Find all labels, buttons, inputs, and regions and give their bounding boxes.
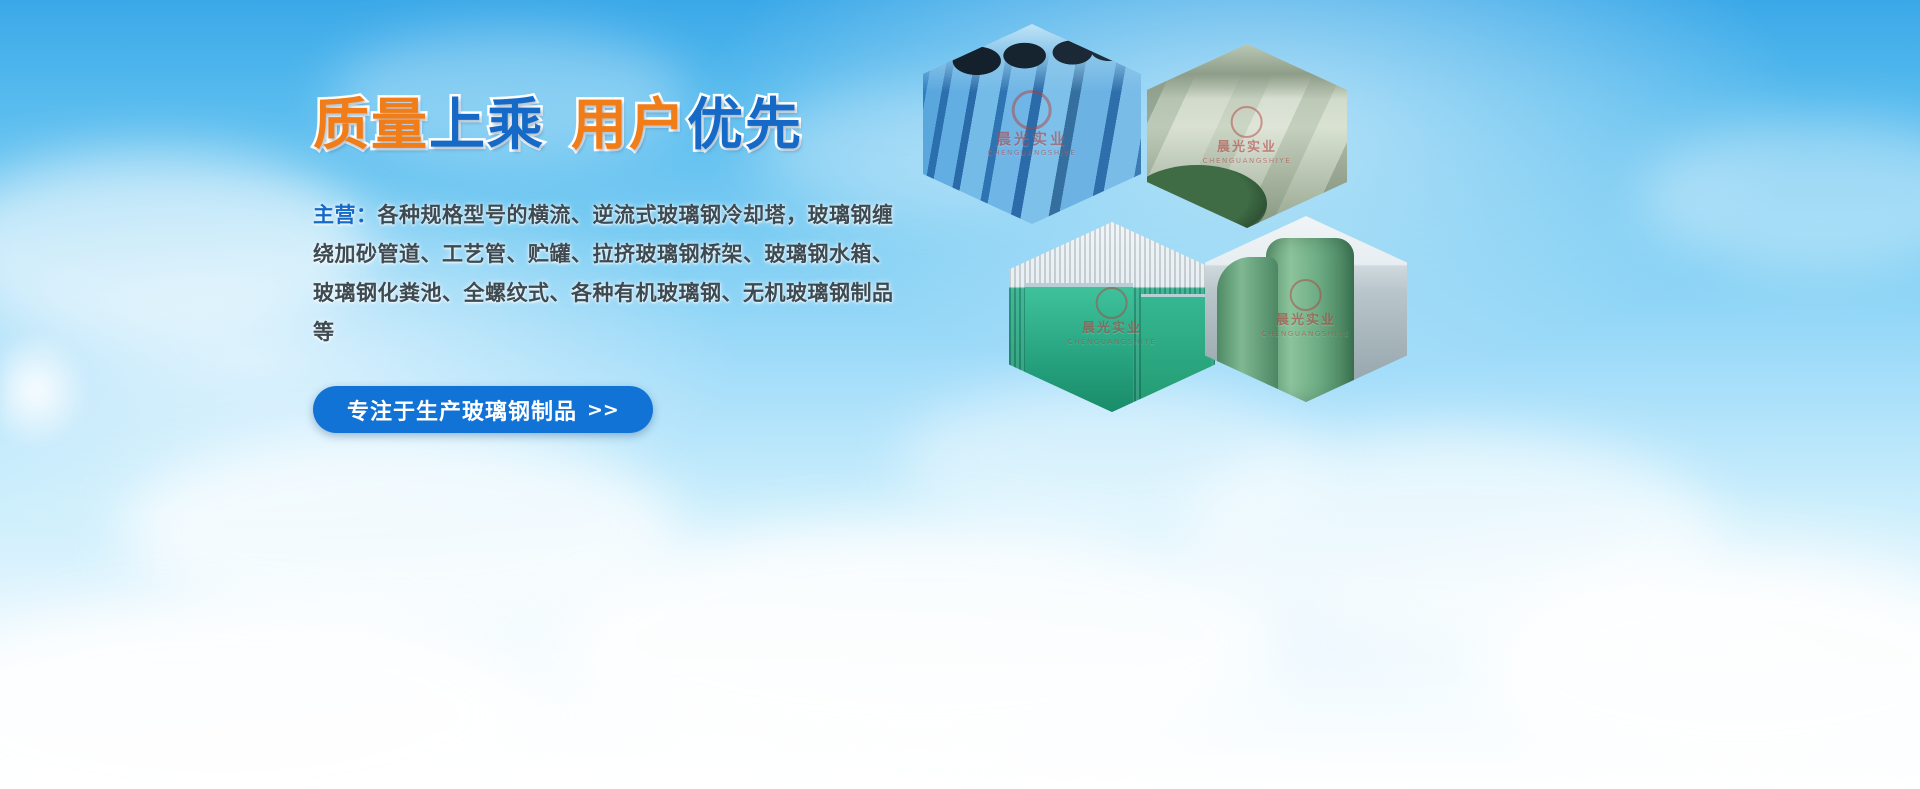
blue-frp-pipes-image [923,24,1141,224]
product-photo-blue-frp-pipes[interactable]: 晨光实业 CHENGUANGSHIYE [923,24,1141,224]
cta-button-label: 专注于生产玻璃钢制品 [347,394,577,426]
banner-headline: 质量上乘用户优先 [313,94,913,158]
double-chevron-right-icon: >> [587,399,619,421]
headline-segment-first: 优先 [687,93,803,158]
headline-segment-quality: 质量 [313,93,429,158]
cloud-decoration [1640,120,1920,270]
cloud-decoration [0,600,530,789]
cloud-decoration [120,430,680,630]
product-photo-cluster: 晨光实业 CHENGUANGSHIYE 晨光实业 CHENGUANGSHIYE … [915,6,1435,406]
promo-banner: 质量上乘用户优先 主营：各种规格型号的横流、逆流式玻璃钢冷却塔，玻璃钢缠绕加砂管… [0,0,1920,789]
cloud-decoration [1180,430,1720,640]
description-lead-label: 主营： [313,203,378,227]
cloud-decoration [1480,560,1920,780]
banner-text-column: 质量上乘用户优先 主营：各种规格型号的横流、逆流式玻璃钢冷却塔，玻璃钢缠绕加砂管… [313,94,913,433]
banner-description: 主营：各种规格型号的横流、逆流式玻璃钢冷却塔，玻璃钢缠绕加砂管道、工艺管、贮罐、… [313,196,903,352]
headline-segment-superior: 上乘 [429,93,545,158]
description-line-3: 粪池、全螺纹式、各种有机玻璃钢、无机玻璃钢制品等 [313,281,894,344]
cloud-wisp-decoration [0,330,90,450]
cta-button[interactable]: 专注于生产玻璃钢制品 >> [313,386,653,433]
green-cooling-towers-image [1009,222,1215,412]
product-photo-green-cooling-towers[interactable]: 晨光实业 CHENGUANGSHIYE [1009,222,1215,412]
product-photo-green-scrubber-tank[interactable]: 晨光实业 CHENGUANGSHIYE [1205,216,1407,402]
product-photo-white-wound-pipes[interactable]: 晨光实业 CHENGUANGSHIYE [1147,44,1347,228]
headline-segment-user: 用户 [571,93,687,158]
white-wound-pipes-image [1147,44,1347,228]
green-scrubber-tank-image [1205,216,1407,402]
cloud-decoration [560,520,1280,760]
